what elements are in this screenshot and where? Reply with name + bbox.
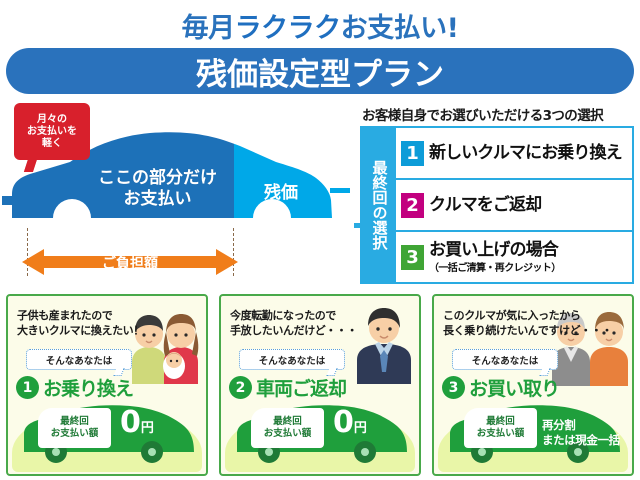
- scenario-card-1[interactable]: 子供も産まれたので 大きいクルマに換えたい！: [6, 294, 208, 476]
- card-3-question-line-2: 長く乗り続けたいんですけど・・・: [443, 323, 612, 338]
- card-3-title: 3 お買い取り: [442, 374, 559, 401]
- card-2-amount: 0円: [333, 408, 367, 444]
- card-3-price-label-line-2: お支払い額: [477, 428, 525, 440]
- card-2-question-line-2: 手放したいんだけど・・・: [230, 323, 357, 338]
- page-title-part2: ラクラク: [235, 13, 341, 44]
- page-title-part3: お支払い!: [341, 13, 459, 44]
- card-1-price-label-line-2: お支払い額: [51, 428, 99, 440]
- options-box: 最終回の選択 1 新しいクルマにお乗り換え 2 クルマをご返却 3 お買い上げの…: [360, 126, 634, 284]
- card-1-price-label: 最終回 お支払い額: [38, 408, 111, 448]
- card-3-question: このクルマが気に入ったから 長く乗り続けたいんですけど・・・: [443, 308, 612, 338]
- option-2-badge: 2: [401, 193, 424, 218]
- option-1-label: 新しいクルマにお乗り換え: [429, 144, 622, 162]
- card-2-price-label-line-2: お支払い額: [264, 428, 312, 440]
- bubble-line-1: 月々の: [37, 114, 67, 126]
- card-3-price-label: 最終回 お支払い額: [464, 408, 537, 448]
- card-3-amount-line-1: 再分割: [542, 418, 620, 433]
- card-2-number-badge: 2: [229, 376, 252, 399]
- card-2-amount-value: 0: [333, 405, 354, 440]
- card-1-amount-value: 0: [120, 405, 141, 440]
- card-3-question-line-1: このクルマが気に入ったから: [443, 308, 612, 323]
- card-2-title: 2 車両ご返却: [229, 374, 346, 401]
- option-3-label: お買い上げの場合: [429, 241, 561, 259]
- card-2-prompt-label: そんなあなたは: [259, 353, 326, 367]
- bubble-line-3: 軽く: [42, 138, 62, 150]
- infographic-root: 毎月ラクラクお支払い! 残価設定型プラン 月々の お支払いを 軽く: [0, 0, 640, 480]
- page-title-part1: 毎月: [182, 13, 235, 44]
- option-3-sublabel: （一括ご清算・再クレジット）: [429, 259, 561, 274]
- payment-portion-line-2: お支払い: [70, 189, 245, 210]
- card-1-amount: 0円: [120, 408, 154, 444]
- card-2-prompt: そんなあなたは: [239, 349, 345, 370]
- card-1-price-label-line-1: 最終回: [60, 416, 89, 428]
- monthly-payment-bubble: 月々の お支払いを 軽く: [14, 103, 90, 160]
- businessman-illustration-icon: [351, 304, 417, 384]
- card-1-amount-unit: 円: [141, 421, 154, 436]
- card-3-number-badge: 3: [442, 376, 465, 399]
- card-3-title-label: お買い取り: [469, 374, 559, 401]
- card-1-prompt-label: そんなあなたは: [46, 353, 113, 367]
- card-2-price-label: 最終回 お支払い額: [251, 408, 324, 448]
- final-choice-panel: お客様自身でお選びいただける3つの選択 最終回の選択 1 新しいクルマにお乗り換…: [360, 104, 636, 286]
- card-1-title-label: お乗り換え: [43, 374, 133, 401]
- option-row-2[interactable]: 2 クルマをご返却: [396, 180, 632, 232]
- residual-value-caption: 残価: [248, 178, 314, 203]
- payment-portion-line-1: ここの部分だけ: [70, 168, 245, 189]
- plan-banner: 残価設定型プラン: [6, 48, 634, 94]
- card-2-question-line-1: 今度転勤になったので: [230, 308, 357, 323]
- page-title: 毎月ラクラクお支払い!: [0, 6, 640, 45]
- car-diagram: 月々の お支払いを 軽く ここの部分だけ お支払い: [0, 100, 352, 290]
- tab-connector: [354, 223, 364, 228]
- option-2-label: クルマをご返却: [429, 196, 541, 214]
- final-choice-tab: 最終回の選択: [362, 128, 396, 282]
- card-3-price-label-line-1: 最終回: [486, 416, 515, 428]
- options-heading: お客様自身でお選びいただける3つの選択: [362, 104, 636, 124]
- option-row-1[interactable]: 1 新しいクルマにお乗り換え: [396, 128, 632, 180]
- card-1-question-line-1: 子供も産まれたので: [17, 308, 144, 323]
- card-2-amount-unit: 円: [354, 421, 367, 436]
- card-2-price-label-line-1: 最終回: [273, 416, 302, 428]
- option-1-badge: 1: [401, 141, 424, 166]
- card-1-prompt: そんなあなたは: [26, 349, 132, 370]
- card-1-question-line-2: 大きいクルマに換えたい！: [17, 323, 144, 338]
- card-3-prompt-label: そんなあなたは: [472, 353, 539, 367]
- card-2-title-label: 車両ご返却: [256, 374, 346, 401]
- payment-portion-caption: ここの部分だけ お支払い: [70, 168, 245, 210]
- plan-banner-label: 残価設定型プラン: [196, 49, 444, 94]
- scenario-cards: 子供も産まれたので 大きいクルマに換えたい！: [0, 292, 640, 480]
- card-3-amount: 再分割 または現金一括: [542, 418, 620, 448]
- option-3-badge: 3: [401, 245, 424, 270]
- scenario-card-3[interactable]: このクルマが気に入ったから 長く乗り続けたいんですけど・・・ そんなあなた: [432, 294, 634, 476]
- final-choice-tab-label: 最終回の選択: [371, 160, 388, 250]
- card-3-prompt: そんなあなたは: [452, 349, 558, 370]
- option-row-3[interactable]: 3 お買い上げの場合 （一括ご清算・再クレジット）: [396, 232, 632, 282]
- bubble-line-2: お支払いを: [27, 126, 77, 138]
- burden-amount-label: ご負担額: [22, 253, 238, 273]
- card-1-question: 子供も産まれたので 大きいクルマに換えたい！: [17, 308, 144, 338]
- scenario-card-2[interactable]: 今度転勤になったので 手放したいんだけど・・・ そんなあなたは 2 車両ご返却: [219, 294, 421, 476]
- options-list: 1 新しいクルマにお乗り換え 2 クルマをご返却 3 お買い上げの場合 （一括ご…: [396, 128, 632, 282]
- card-2-question: 今度転勤になったので 手放したいんだけど・・・: [230, 308, 357, 338]
- card-1-number-badge: 1: [16, 376, 39, 399]
- card-3-amount-line-2: または現金一括: [542, 433, 620, 448]
- card-1-title: 1 お乗り換え: [16, 374, 133, 401]
